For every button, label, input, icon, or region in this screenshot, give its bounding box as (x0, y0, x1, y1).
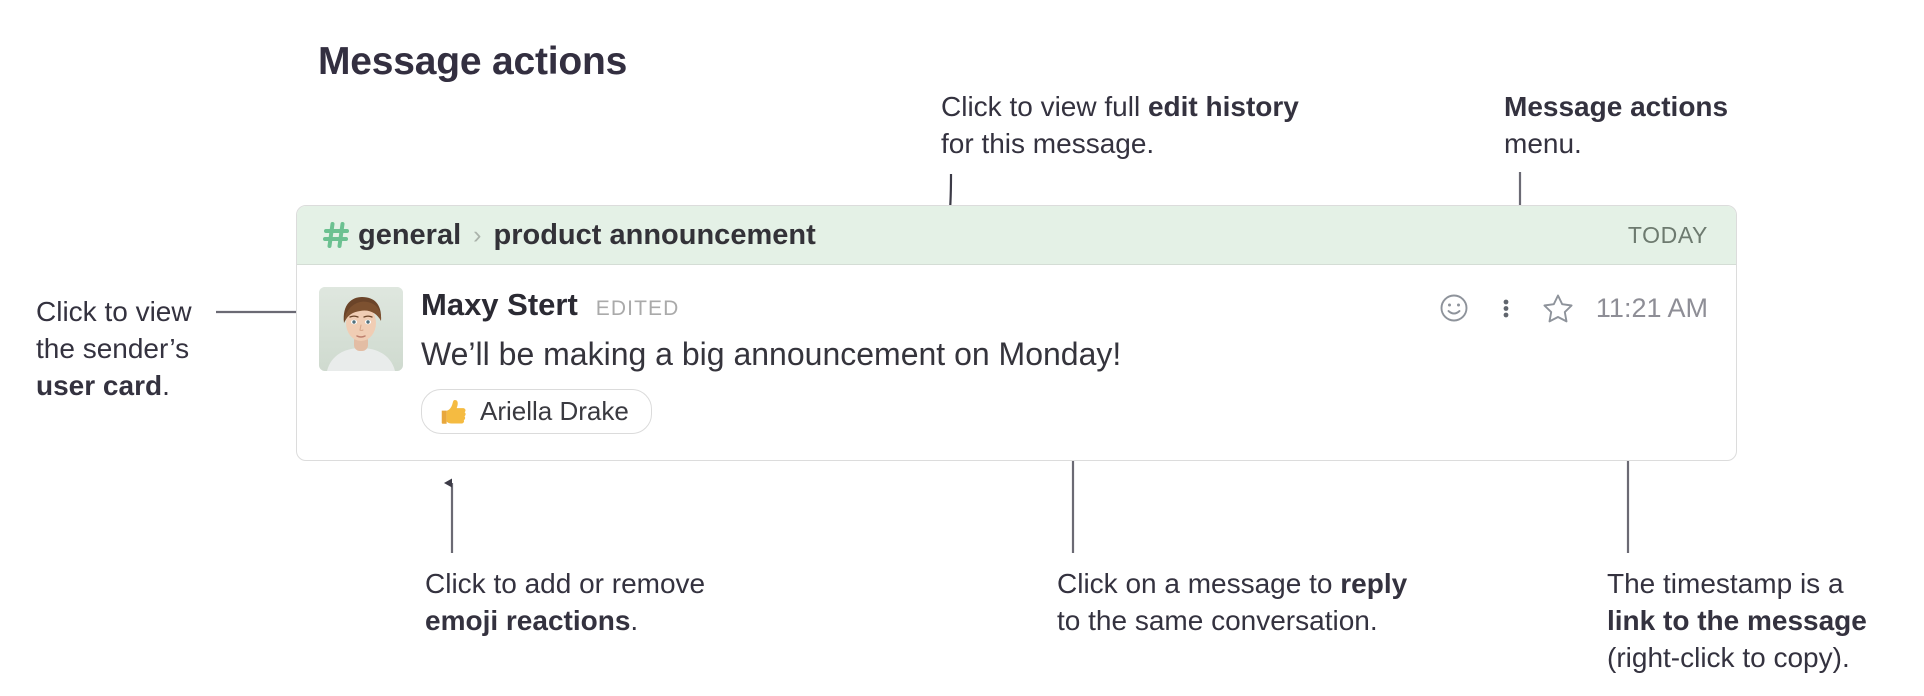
annotation-actions-menu: Message actions menu. (1504, 88, 1728, 162)
message-card: general › product announcement TODAY (296, 205, 1737, 461)
edited-label[interactable]: EDITED (596, 297, 680, 321)
message-top-row: Maxy Stert EDITED (421, 287, 1708, 327)
annotation-text: . (630, 605, 638, 636)
sender-name[interactable]: Maxy Stert (421, 287, 578, 323)
message-content: Maxy Stert EDITED (421, 287, 1708, 434)
annotation-edit-history: Click to view full edit history for this… (941, 88, 1299, 162)
annotation-line: Message actions (1504, 88, 1728, 125)
annotation-emphasis: link to the message (1607, 605, 1867, 636)
reaction-user-name: Ariella Drake (480, 396, 629, 427)
annotation-emoji-reactions: Click to add or remove emoji reactions. (425, 565, 705, 639)
annotation-emphasis: emoji reactions (425, 605, 630, 636)
message-text[interactable]: We’ll be making a big announcement on Mo… (421, 333, 1708, 375)
annotation-emphasis: Message actions (1504, 91, 1728, 122)
annotation-reply: Click on a message to reply to the same … (1057, 565, 1407, 639)
annotation-line: link to the message (1607, 602, 1867, 639)
message-row[interactable]: Maxy Stert EDITED (297, 265, 1736, 460)
annotation-emphasis: user card (36, 370, 162, 401)
message-actions-menu-icon[interactable] (1480, 289, 1532, 327)
annotation-line: Click to view (36, 293, 192, 330)
annotation-line: Click to view full edit history (941, 88, 1299, 125)
breadcrumb-separator-icon: › (473, 223, 481, 248)
annotation-line: menu. (1504, 125, 1728, 162)
emoji-reaction-icon[interactable] (1428, 289, 1480, 327)
annotation-line: Click on a message to reply (1057, 565, 1407, 602)
annotation-text: . (162, 370, 170, 401)
annotation-line: to the same conversation. (1057, 602, 1407, 639)
annotation-timestamp: The timestamp is a link to the message (… (1607, 565, 1867, 676)
annotation-line: The timestamp is a (1607, 565, 1867, 602)
reaction-pill[interactable]: Ariella Drake (421, 389, 652, 434)
avatar[interactable] (319, 287, 403, 371)
message-timestamp[interactable]: 11:21 AM (1596, 293, 1708, 324)
hash-icon[interactable] (323, 220, 349, 250)
annotation-emphasis: edit history (1148, 91, 1299, 122)
annotation-line: for this message. (941, 125, 1299, 162)
header-date-label[interactable]: TODAY (1628, 222, 1708, 249)
annotation-line: user card. (36, 367, 192, 404)
topic-name[interactable]: product announcement (494, 219, 816, 252)
annotation-emphasis: reply (1340, 568, 1407, 599)
stream-name[interactable]: general (358, 219, 461, 252)
sender-row: Maxy Stert EDITED (421, 287, 679, 325)
annotation-user-card: Click to view the sender’s user card. (36, 293, 192, 404)
annotation-line: (right-click to copy). (1607, 639, 1867, 676)
star-icon[interactable] (1532, 289, 1584, 327)
annotation-line: emoji reactions. (425, 602, 705, 639)
message-controls: 11:21 AM (1428, 287, 1708, 327)
annotation-line: Click to add or remove (425, 565, 705, 602)
annotation-text: Click to view full (941, 91, 1148, 122)
reaction-row: Ariella Drake (421, 389, 1708, 434)
annotation-line: the sender’s (36, 330, 192, 367)
annotation-text: Click on a message to (1057, 568, 1340, 599)
thumbs-up-emoji (438, 397, 468, 427)
page-title: Message actions (318, 40, 627, 84)
message-recipient-header[interactable]: general › product announcement TODAY (297, 206, 1736, 265)
